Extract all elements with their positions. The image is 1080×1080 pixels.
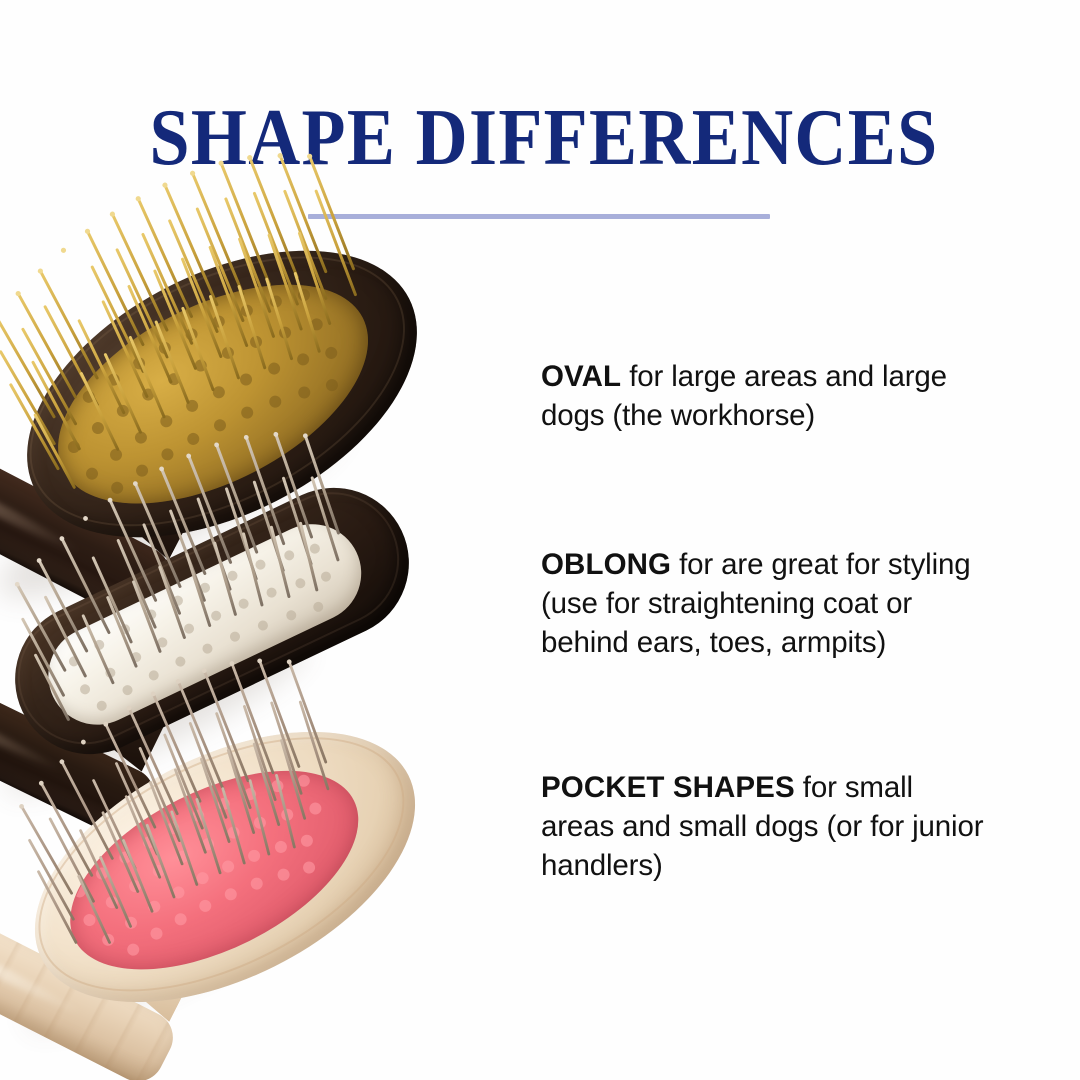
callout-pocket: POCKET SHAPES for small areas and small … — [541, 768, 993, 886]
brush-pocket — [0, 770, 540, 1080]
callout-oblong-label: OBLONG — [541, 548, 671, 581]
poster-canvas: SHAPE DIFFERENCES — [0, 0, 1080, 1080]
callout-oblong: OBLONG for are great for styling (use fo… — [541, 545, 993, 663]
callout-oval: OVAL for large areas and large dogs (the… — [541, 357, 993, 435]
brush-pocket-head — [0, 676, 458, 1058]
callout-oval-label: OVAL — [541, 360, 621, 393]
callout-pocket-label: POCKET SHAPES — [541, 771, 795, 804]
